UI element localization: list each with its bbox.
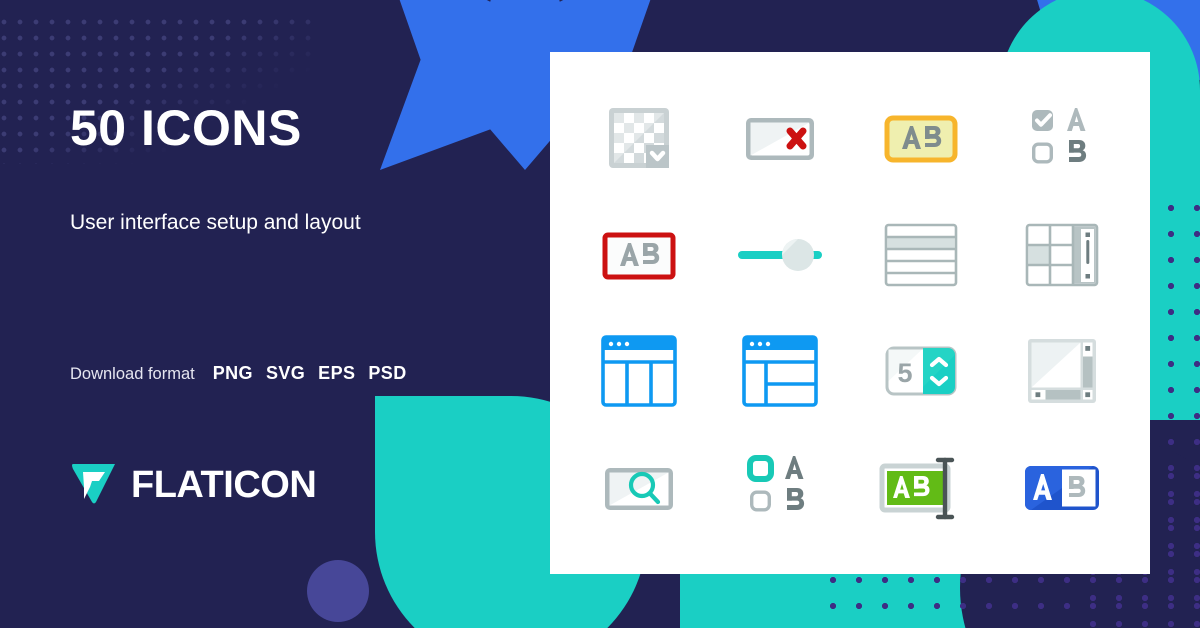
icon-preview-card: 5 — [550, 52, 1150, 574]
list-rows-layout-icon — [880, 215, 962, 295]
transparency-checkerboard-dropdown-icon — [600, 99, 678, 177]
icon-cell[interactable] — [568, 80, 709, 197]
page-subtitle: User interface setup and layout — [70, 208, 400, 238]
panel-resize-scrollbars-icon — [1022, 331, 1102, 411]
text-field-border-red-icon — [596, 216, 682, 294]
browser-sidebar-layout-icon — [739, 330, 821, 412]
icon-cell[interactable] — [850, 430, 991, 547]
page-title: 50 ICONS — [70, 103, 302, 153]
download-format-row: Download format PNG SVG EPS PSD — [70, 363, 407, 384]
grid-layout-scrollbar-icon — [1021, 215, 1103, 295]
format-eps[interactable]: EPS — [318, 363, 355, 384]
window-search-icon — [596, 449, 682, 527]
radio-button-list-ab-icon — [737, 447, 823, 529]
slider-control-icon — [730, 216, 830, 294]
window-close-error-icon — [737, 99, 823, 177]
icon-cell[interactable] — [850, 197, 991, 314]
checkbox-list-ab-icon — [1019, 99, 1105, 177]
icon-cell[interactable] — [991, 80, 1132, 197]
format-png[interactable]: PNG — [213, 363, 253, 384]
browser-three-columns-layout-icon — [598, 330, 680, 412]
icon-cell[interactable] — [709, 80, 850, 197]
brand-lockup[interactable]: FLATICON — [70, 461, 316, 510]
promo-banner: 50 ICONS User interface setup and layout… — [0, 0, 1200, 628]
icon-cell[interactable] — [850, 80, 991, 197]
icon-cell[interactable] — [568, 430, 709, 547]
brand-name: FLATICON — [131, 464, 316, 507]
icon-cell[interactable] — [709, 430, 850, 547]
format-svg[interactable]: SVG — [266, 363, 305, 384]
text-select-highlight-green-icon — [873, 445, 969, 531]
text-field-highlight-yellow-icon — [878, 99, 964, 177]
info-column: 50 ICONS User interface setup and layout… — [70, 0, 530, 628]
format-psd[interactable]: PSD — [368, 363, 406, 384]
icon-cell[interactable] — [709, 313, 850, 430]
icon-cell[interactable]: 5 — [850, 313, 991, 430]
icon-cell[interactable] — [991, 197, 1132, 314]
svg-text:5: 5 — [897, 358, 912, 388]
download-format-label: Download format — [70, 365, 195, 384]
icon-cell[interactable] — [991, 313, 1132, 430]
icon-grid: 5 — [550, 52, 1150, 574]
icon-cell[interactable] — [568, 313, 709, 430]
flaticon-logo-icon — [70, 461, 118, 510]
number-stepper-icon: 5 — [878, 331, 964, 411]
icon-cell[interactable] — [568, 197, 709, 314]
download-format-list: PNG SVG EPS PSD — [213, 363, 407, 384]
icon-cell[interactable] — [991, 430, 1132, 547]
text-contrast-ab-blue-icon — [1019, 453, 1105, 523]
icon-cell[interactable] — [709, 197, 850, 314]
